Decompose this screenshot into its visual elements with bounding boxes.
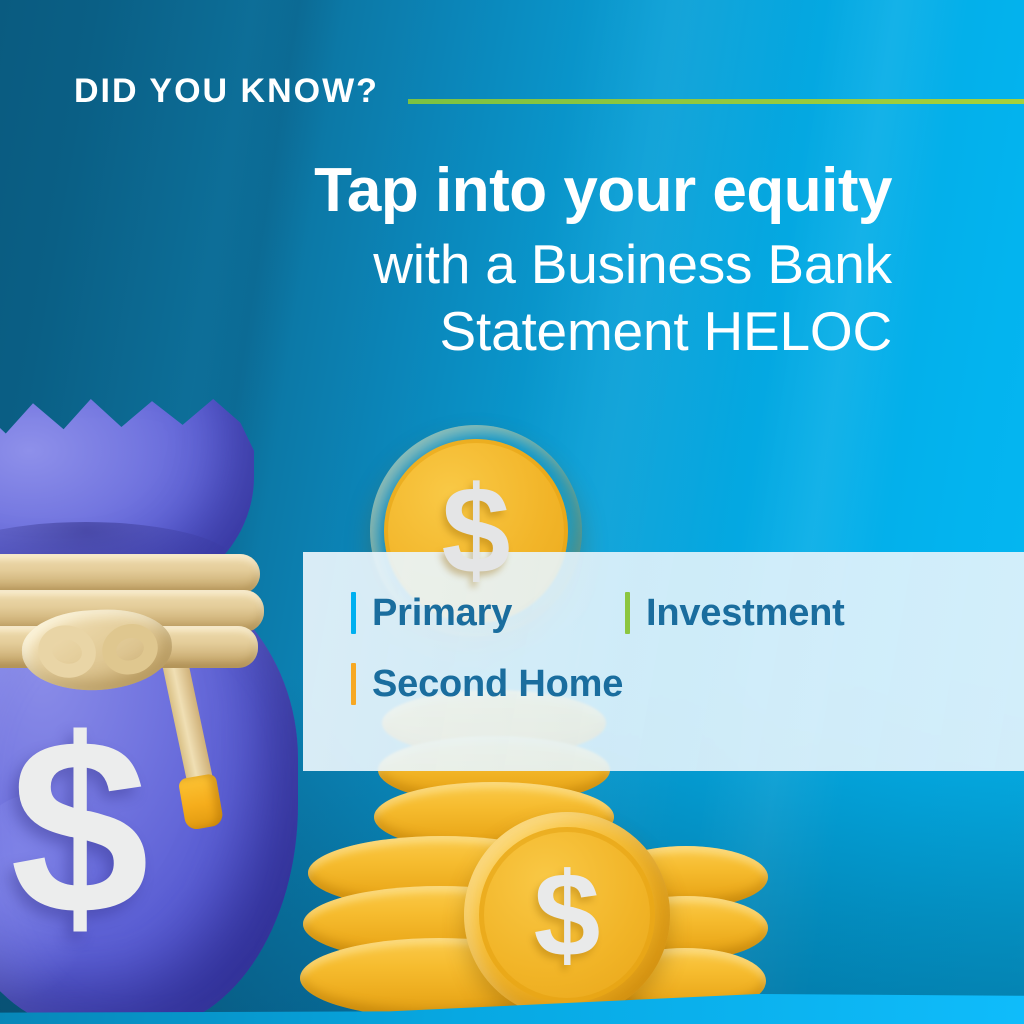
coin-front-illustration: $ (464, 812, 670, 1018)
tag-investment-label: Investment (646, 594, 845, 632)
dollar-sign-icon: $ (10, 702, 149, 952)
eyebrow-text: DID YOU KNOW? (74, 74, 379, 108)
dollar-sign-icon: $ (464, 812, 670, 1018)
page-title: Tap into your equity with a Business Ban… (0, 158, 892, 365)
eyebrow-rule (408, 99, 1024, 104)
tag-second-home[interactable]: Second Home (351, 663, 623, 705)
poster-canvas: DID YOU KNOW? Tap into your equity with … (0, 0, 1024, 1024)
headline-line-3: Statement HELOC (0, 298, 892, 365)
dollar-sign-icon: $ (370, 425, 582, 637)
headline-line-1: Tap into your equity (0, 158, 892, 225)
tag-accent-bar-green (625, 592, 630, 634)
coin-top-illustration: $ (370, 425, 582, 637)
property-types-row-2: Second Home (351, 663, 1024, 705)
tag-investment[interactable]: Investment (625, 592, 845, 634)
tag-accent-bar-orange (351, 663, 356, 705)
money-bag-illustration: $ (0, 372, 344, 1024)
headline-line-2: with a Business Bank (0, 231, 892, 298)
tag-accent-bar-cyan (351, 592, 356, 634)
tag-second-home-label: Second Home (372, 665, 623, 703)
